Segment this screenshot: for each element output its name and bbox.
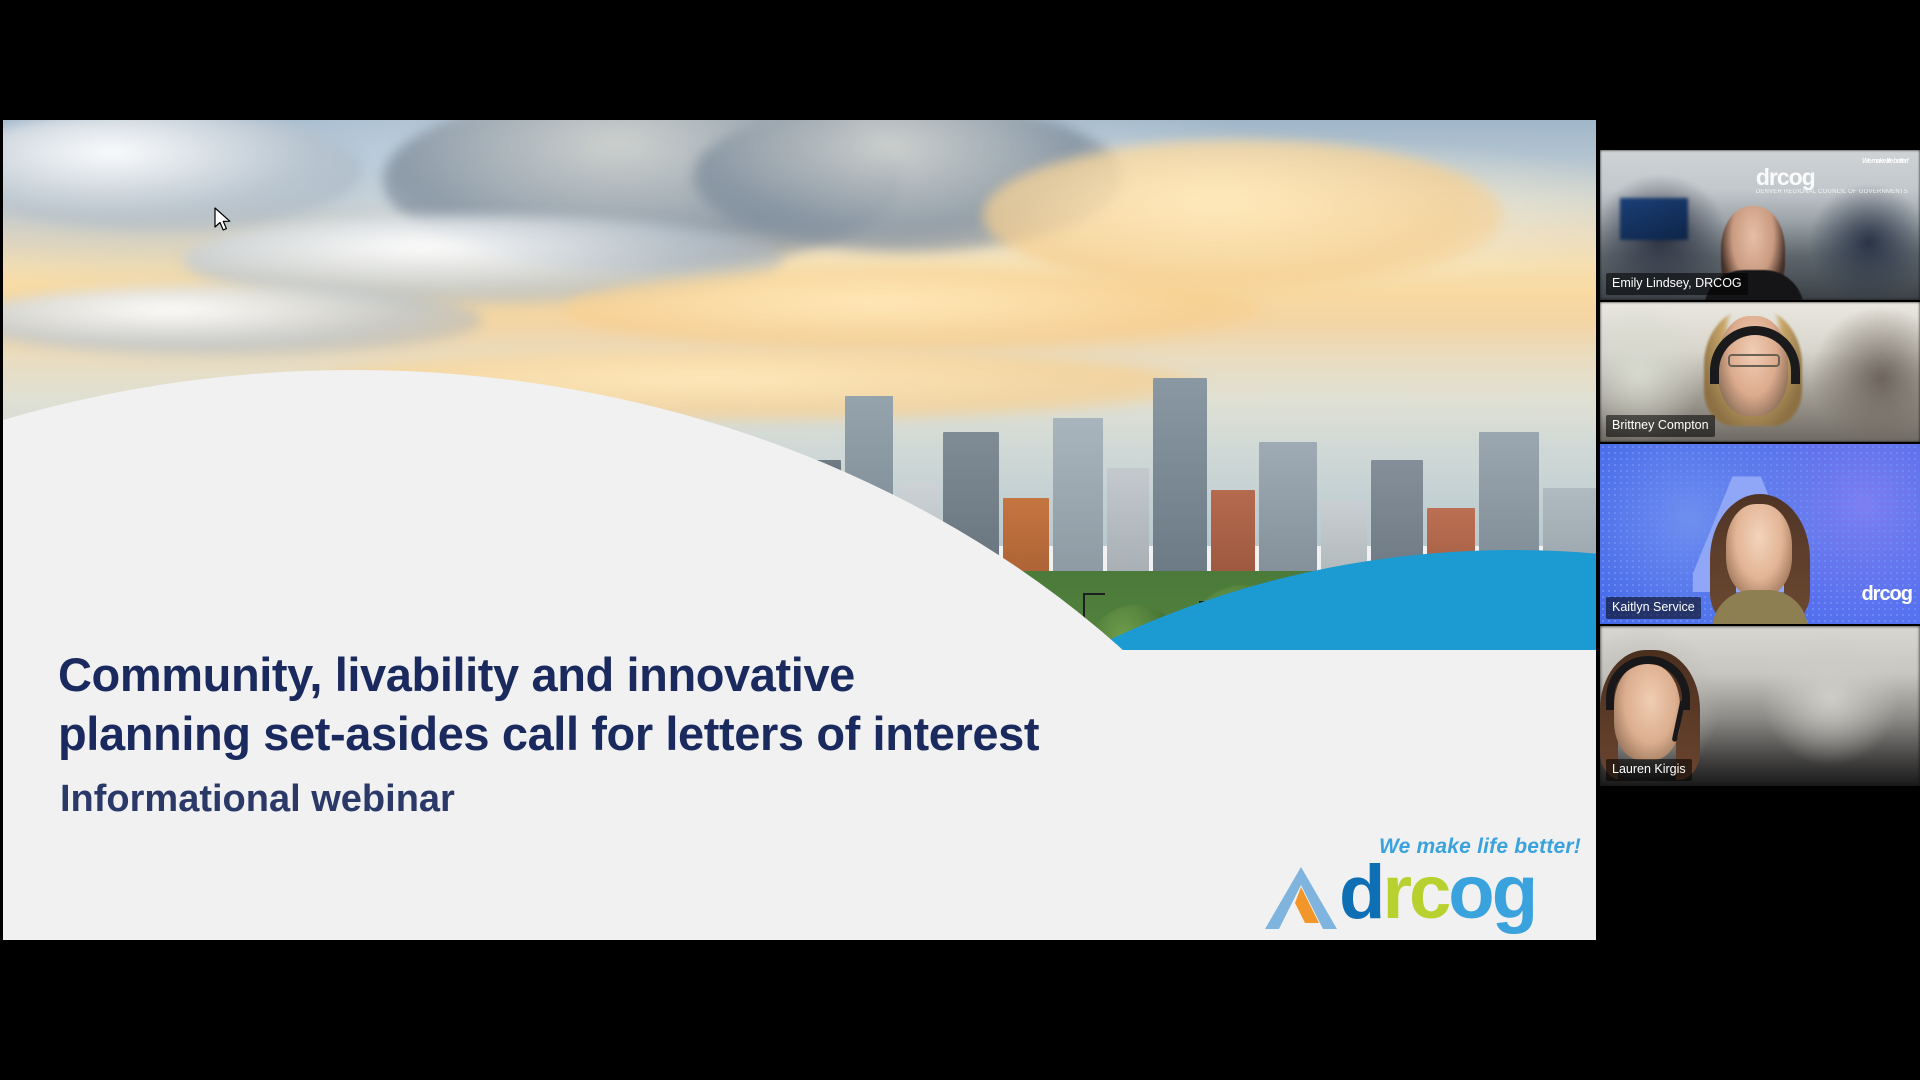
participant-name-label: Kaitlyn Service bbox=[1606, 597, 1701, 619]
background-monitor bbox=[1620, 198, 1688, 240]
drcog-triangle-icon bbox=[1261, 861, 1341, 937]
cloud bbox=[983, 140, 1503, 290]
video-tile-participant-2[interactable]: Brittney Compton bbox=[1600, 302, 1920, 442]
video-conference-window: Community, livability and innovative pla… bbox=[0, 0, 1920, 1080]
slide-title-line-2: planning set-asides call for letters of … bbox=[58, 704, 1068, 763]
slide-subtitle: Informational webinar bbox=[60, 778, 960, 821]
video-tile-participant-4[interactable]: Lauren Kirgis bbox=[1600, 626, 1920, 786]
video-tile-participant-3[interactable]: Δ drcog Kaitlyn Service bbox=[1600, 444, 1920, 624]
drcog-overlay-logo: drcog bbox=[1861, 583, 1912, 606]
slide-title-line-1: Community, livability and innovative bbox=[58, 645, 1068, 704]
mouse-pointer-icon bbox=[214, 207, 232, 233]
drcog-overlay-subtext: DENVER REGIONAL COUNCIL OF GOVERNMENTS bbox=[1756, 189, 1908, 195]
eyeglasses bbox=[1728, 354, 1780, 367]
drcog-overlay-wordmark: drcog bbox=[1756, 164, 1815, 190]
participant-video-strip: We make life better! drcog DENVER REGION… bbox=[1600, 150, 1920, 895]
participant-face bbox=[1726, 504, 1792, 596]
drcog-overlay-logo: We make life better! drcog DENVER REGION… bbox=[1756, 158, 1908, 195]
participant-name-label: Brittney Compton bbox=[1606, 415, 1715, 437]
drcog-logo: We make life better! drcog bbox=[1261, 835, 1591, 940]
participant-name-label: Emily Lindsey, DRCOG bbox=[1606, 273, 1748, 295]
participant-name-label: Lauren Kirgis bbox=[1606, 759, 1692, 781]
drcog-wordmark: drcog bbox=[1261, 859, 1591, 931]
drcog-wordmark-text: drcog bbox=[1339, 855, 1535, 931]
shared-screen-slide[interactable]: Community, livability and innovative pla… bbox=[3, 120, 1596, 940]
video-tile-participant-1[interactable]: We make life better! drcog DENVER REGION… bbox=[1600, 150, 1920, 300]
slide-title: Community, livability and innovative pla… bbox=[58, 645, 1068, 763]
